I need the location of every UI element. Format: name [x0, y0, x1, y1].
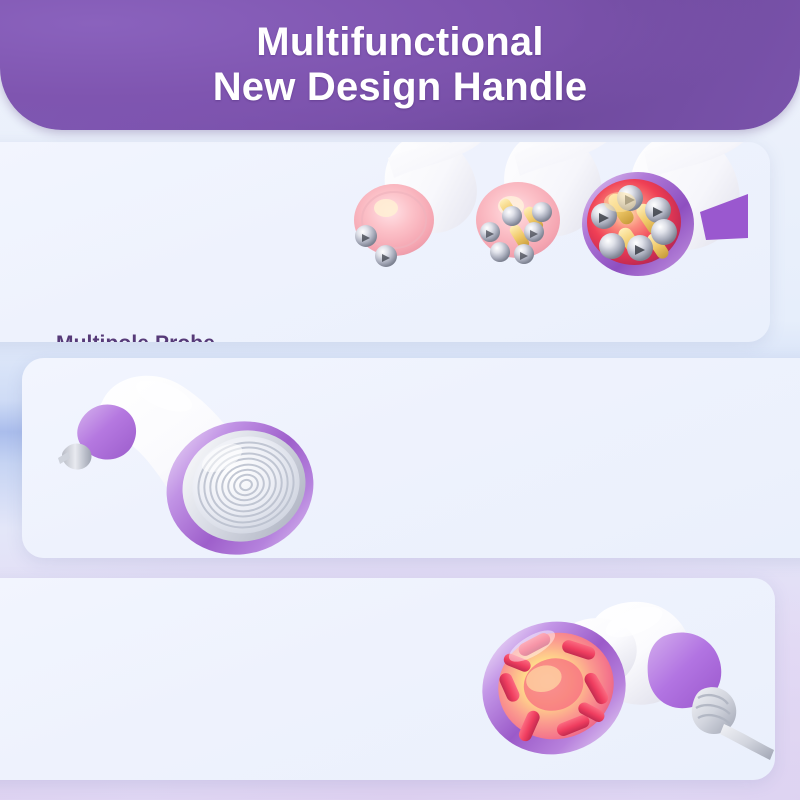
- banner-title-line-2: New Design Handle: [213, 65, 588, 110]
- multipole-probe-text: Multipole Probe 2-polar for eyes 6-polar…: [56, 332, 262, 342]
- vacuum-heated-probe-illustration: [458, 592, 775, 772]
- banner-title-line-1: Multifunctional: [256, 20, 543, 65]
- feature-card-flat-massage-probe: Flat Massage Probe This flat handle is v…: [22, 358, 800, 558]
- header-banner: Multifunctional New Design Handle: [0, 0, 800, 130]
- multipole-probe-illustration: [328, 142, 748, 342]
- feature-card-vacuum-heated-probe: Vacuum & Heated Probe Improve skin elast…: [0, 578, 775, 780]
- feature-card-multipole-probe: Multipole Probe 2-polar for eyes 6-polar…: [0, 142, 770, 342]
- flat-massage-probe-illustration: [44, 366, 374, 556]
- multipole-probe-title: Multipole Probe: [56, 332, 262, 342]
- product-infographic: Multifunctional New Design Handle: [0, 0, 800, 800]
